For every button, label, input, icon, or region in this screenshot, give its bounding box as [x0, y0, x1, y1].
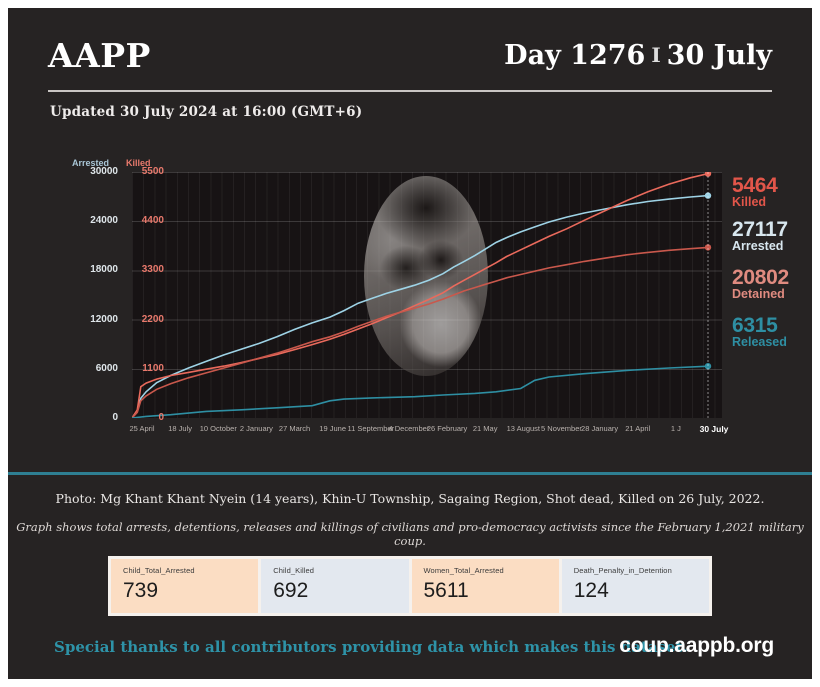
axis-tick: 0 [60, 412, 118, 423]
axis-tick: 5500 [124, 166, 164, 177]
axis-tick: 24000 [60, 215, 118, 226]
stat-value: 20802 [732, 268, 789, 288]
x-axis-tick: 18 July [168, 424, 192, 433]
header: AAPP Day 1276I30 July [48, 36, 772, 92]
stat-value: 6315 [732, 316, 787, 336]
x-axis-tick: 28 January [581, 424, 618, 433]
axis-tick: 4400 [124, 215, 164, 226]
axis-tick: 6000 [60, 363, 118, 374]
stat-value: 5464 [732, 176, 778, 196]
series-line [132, 174, 708, 418]
stat-label: Arrested [732, 240, 788, 253]
stat-card-key: Death_Penalty_in_Detention [574, 566, 699, 575]
stat-card-key: Child_Total_Arrested [123, 566, 248, 575]
stat-label: Killed [732, 196, 778, 209]
chart: Arrested Killed 060001200018000240003000… [44, 158, 784, 448]
stat-card: Death_Penalty_in_Detention124 [562, 559, 709, 613]
stat-card-value: 739 [123, 580, 248, 602]
stat-card-row: Child_Total_Arrested739Child_Killed692Wo… [108, 556, 712, 616]
stat-arrested: 27117Arrested [732, 220, 788, 253]
header-divider [48, 90, 772, 92]
x-axis-tick: 1 J [671, 424, 681, 433]
stat-card-value: 692 [273, 580, 398, 602]
x-axis-tick: 2 January [240, 424, 273, 433]
x-axis-tick: 11 September [348, 424, 395, 433]
axis-tick: 1100 [124, 363, 164, 374]
series-line [132, 247, 708, 418]
x-axis-tick: 30 July [700, 424, 729, 434]
poster: AAPP Day 1276I30 July Updated 30 July 20… [8, 8, 812, 679]
x-axis-tick: 19 June [319, 424, 346, 433]
brand-title: AAPP [48, 36, 151, 75]
photo-caption: Photo: Mg Khant Khant Nyein (14 years), … [8, 491, 812, 506]
x-axis-tick: 26 February [427, 424, 467, 433]
stat-card-value: 124 [574, 580, 699, 602]
axis-tick: 3300 [124, 264, 164, 275]
stat-released: 6315Released [732, 316, 787, 349]
stat-label: Released [732, 336, 787, 349]
x-axis-tick: 10 October [200, 424, 237, 433]
stat-card: Child_Killed692 [261, 559, 408, 613]
section-divider [8, 472, 812, 475]
x-axis-tick: 5 November [541, 424, 582, 433]
current-date: 30 July [667, 40, 772, 71]
x-axis-tick: 27 March [279, 424, 310, 433]
plot-area [132, 172, 722, 418]
updated-timestamp: Updated 30 July 2024 at 16:00 (GMT+6) [50, 104, 362, 120]
website-url[interactable]: coup.aappb.org [619, 634, 774, 658]
graph-description: Graph shows total arrests, detentions, r… [8, 520, 812, 548]
stat-card: Child_Total_Arrested739 [111, 559, 258, 613]
x-axis-tick: 25 April [129, 424, 154, 433]
title-separator: I [651, 43, 660, 67]
x-axis-tick: 13 August [507, 424, 540, 433]
axis-tick: 2200 [124, 314, 164, 325]
axis-tick: 0 [124, 412, 164, 423]
day-date-title: Day 1276I30 July [504, 40, 772, 71]
stat-card-key: Women_Total_Arrested [424, 566, 549, 575]
stat-label: Detained [732, 288, 789, 301]
thanks-note: Special thanks to all contributors provi… [54, 638, 688, 656]
stat-value: 27117 [732, 220, 788, 240]
stat-card: Women_Total_Arrested5611 [412, 559, 559, 613]
stat-detained: 20802Detained [732, 268, 789, 301]
stat-killed: 5464Killed [732, 176, 778, 209]
axis-tick: 30000 [60, 166, 118, 177]
day-counter: Day 1276 [504, 40, 645, 71]
axis-tick: 18000 [60, 264, 118, 275]
x-axis-tick: 21 April [625, 424, 650, 433]
series-lines [132, 172, 722, 418]
stat-card-key: Child_Killed [273, 566, 398, 575]
axis-tick: 12000 [60, 314, 118, 325]
x-axis-tick: 4 December [388, 424, 429, 433]
stat-card-value: 5611 [424, 580, 549, 602]
series-line [132, 366, 708, 418]
x-axis-tick: 21 May [473, 424, 498, 433]
